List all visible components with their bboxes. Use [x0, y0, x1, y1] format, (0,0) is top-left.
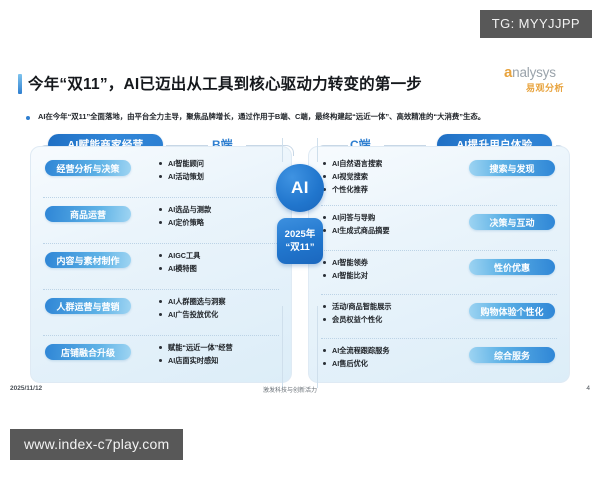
row-divider — [43, 243, 279, 244]
row-bullets: AI智能顾问 AI活动策划 — [159, 157, 204, 183]
table-row: 性价优惠 AI智能领券 AI智能比对 — [309, 250, 569, 293]
row-tag: 经营分析与决策 — [45, 160, 131, 176]
footer-tagline: 激发科技与创新活力 — [263, 385, 317, 394]
table-row: 内容与素材制作 AIGC工具 AI模特图 — [31, 243, 291, 286]
list-item: AIGC工具 — [159, 249, 200, 262]
list-item: AI活动策划 — [159, 170, 204, 183]
list-item: AI生成式商品摘要 — [323, 224, 390, 237]
table-row: 商品运营 AI选品与测款 AI定价策略 — [31, 197, 291, 240]
list-item: AI广告投放优化 — [159, 308, 226, 321]
list-item: 赋能“远近一体”经营 — [159, 341, 233, 354]
connector-line-left — [282, 138, 283, 162]
row-tag: 内容与素材制作 — [45, 252, 131, 268]
badge-event: “双11” — [285, 241, 314, 254]
row-divider — [321, 250, 557, 251]
list-item: 活动/商品智能展示 — [323, 300, 392, 313]
row-bullets: 活动/商品智能展示 会员权益个性化 — [323, 300, 392, 326]
table-row: 购物体验个性化 活动/商品智能展示 会员权益个性化 — [309, 294, 569, 337]
row-divider — [321, 294, 557, 295]
row-bullets: AI选品与测款 AI定价策略 — [159, 203, 211, 229]
row-bullets: AI问答与导购 AI生成式商品摘要 — [323, 211, 390, 237]
row-tag: 人群运营与营销 — [45, 298, 131, 314]
list-item: AI问答与导购 — [323, 211, 390, 224]
row-bullets: AIGC工具 AI模特图 — [159, 249, 200, 275]
list-item: AI选品与测款 — [159, 203, 211, 216]
slide-footer: 2025/11/12 激发科技与创新活力 4 — [0, 385, 600, 401]
list-item: AI店面实时感知 — [159, 354, 233, 367]
connector-line-right-lower — [317, 306, 318, 388]
list-item: AI智能顾问 — [159, 157, 204, 170]
row-tag: 决策与互动 — [469, 214, 555, 230]
double-eleven-badge: 2025年 “双11” — [277, 218, 323, 264]
row-tag: 购物体验个性化 — [469, 303, 555, 319]
logo-mark-glyph: a — [504, 64, 512, 81]
connector-line-right — [317, 138, 318, 162]
table-row: 经营分析与决策 AI智能顾问 AI活动策划 — [31, 151, 291, 194]
bullet-dot-icon — [26, 116, 30, 120]
table-row: 决策与互动 AI问答与导购 AI生成式商品摘要 — [309, 205, 569, 248]
title-accent-bar — [18, 74, 22, 94]
row-bullets: AI人群圈选与洞察 AI广告投放优化 — [159, 295, 226, 321]
left-panel: 经营分析与决策 AI智能顾问 AI活动策划 商品运营 AI选品与测款 AI定价策… — [30, 146, 292, 383]
footer-date: 2025/11/12 — [10, 385, 42, 392]
row-divider — [321, 338, 557, 339]
row-bullets: AI全流程跟踪服务 AI售后优化 — [323, 344, 390, 370]
url-watermark: www.index-c7play.com — [10, 429, 183, 460]
connector-line-left-lower — [282, 306, 283, 388]
row-divider — [43, 197, 279, 198]
row-divider — [43, 335, 279, 336]
footer-page-number: 4 — [586, 385, 590, 392]
presentation-slide: 今年“双11”，AI已迈出从工具到核心驱动力转变的第一步 analysys 易观… — [0, 58, 600, 400]
row-tag: 搜索与发现 — [469, 160, 555, 176]
analysys-logo: analysys 易观分析 — [504, 64, 594, 98]
list-item: AI全流程跟踪服务 — [323, 344, 390, 357]
row-tag: 店铺融合升级 — [45, 344, 131, 360]
slide-screenshot: TG: MYYJJPP 今年“双11”，AI已迈出从工具到核心驱动力转变的第一步… — [0, 0, 600, 480]
logo-name-text: nalysys — [512, 65, 556, 80]
badge-year: 2025年 — [285, 228, 316, 241]
list-item: AI人群圈选与洞察 — [159, 295, 226, 308]
list-item: AI模特图 — [159, 262, 200, 275]
table-row: 店铺融合升级 赋能“远近一体”经营 AI店面实时感知 — [31, 335, 291, 378]
ai-core-circle: AI — [276, 164, 324, 212]
list-item: AI售后优化 — [323, 357, 390, 370]
center-column: AI 2025年 “双11” — [268, 138, 332, 388]
page-title: 今年“双11”，AI已迈出从工具到核心驱动力转变的第一步 — [28, 72, 422, 94]
right-panel: 搜索与发现 AI自然语言搜索 AI视觉搜索 个性化推荐 决策与互动 AI问答与导… — [308, 146, 570, 383]
subtitle-text: AI在今年“双11”全面落地，由平台全力主导，聚焦品牌增长，通过作用于B端、C端… — [38, 111, 485, 122]
list-item: 会员权益个性化 — [323, 313, 392, 326]
row-divider — [321, 205, 557, 206]
row-tag: 综合服务 — [469, 347, 555, 363]
row-tag: 商品运营 — [45, 206, 131, 222]
row-bullets: 赋能“远近一体”经营 AI店面实时感知 — [159, 341, 233, 367]
row-tag: 性价优惠 — [469, 259, 555, 275]
table-row: 人群运营与营销 AI人群圈选与洞察 AI广告投放优化 — [31, 289, 291, 332]
table-row: 综合服务 AI全流程跟踪服务 AI售后优化 — [309, 338, 569, 381]
row-divider — [43, 289, 279, 290]
logo-wordmark: analysys — [504, 64, 594, 81]
list-item: AI定价策略 — [159, 216, 211, 229]
table-row: 搜索与发现 AI自然语言搜索 AI视觉搜索 个性化推荐 — [309, 151, 569, 203]
telegram-watermark: TG: MYYJJPP — [480, 10, 592, 38]
logo-subtitle: 易观分析 — [526, 81, 564, 94]
